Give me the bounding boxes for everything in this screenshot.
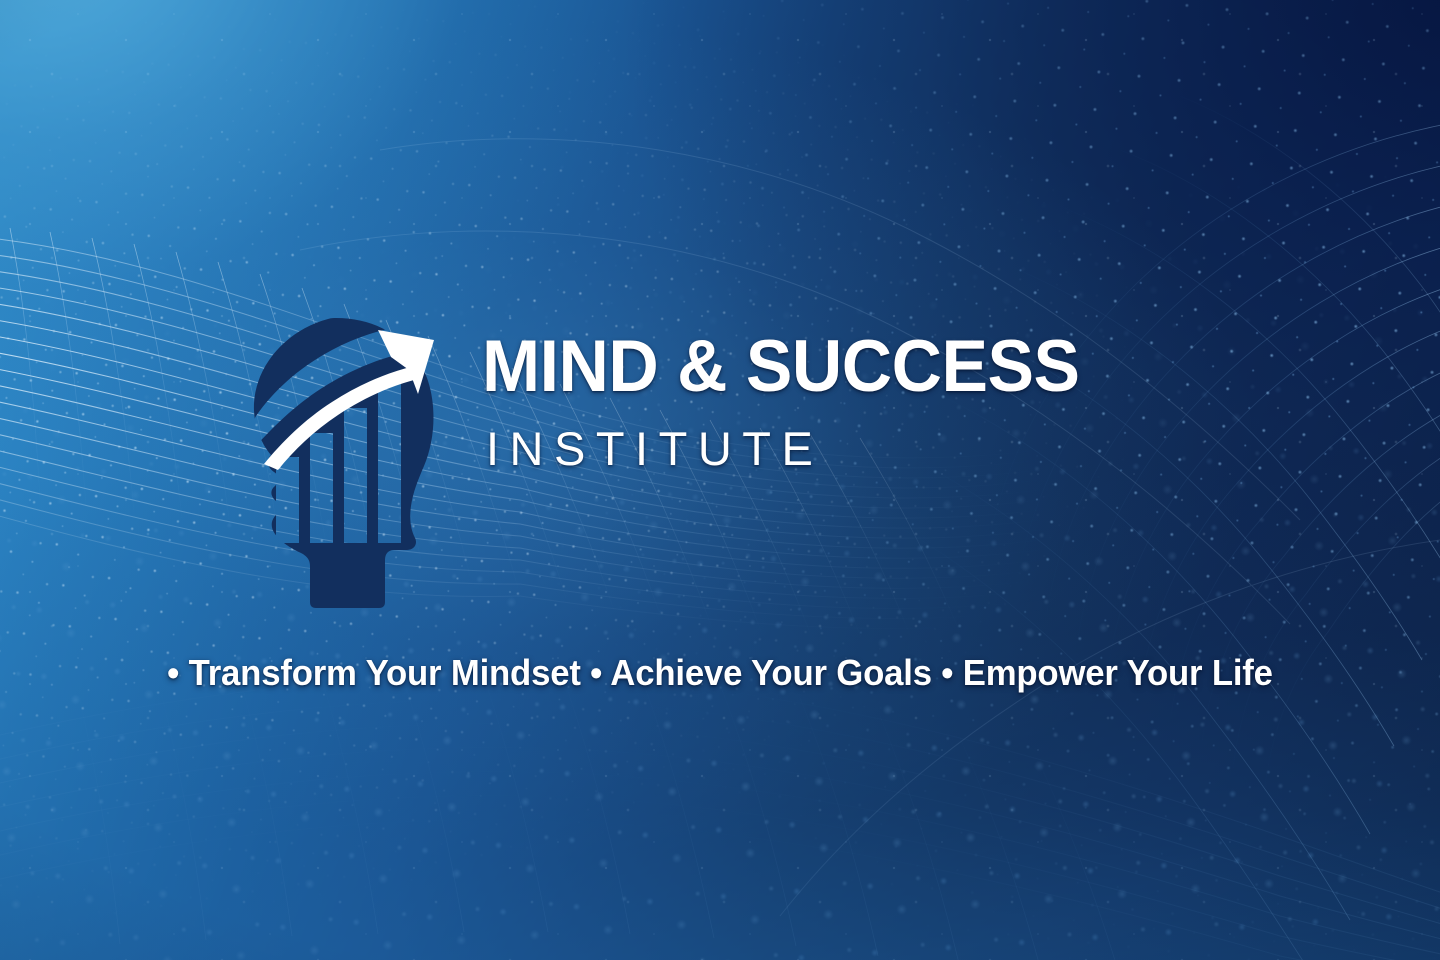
background-vignette bbox=[0, 0, 1440, 960]
brand-wordmark: MIND & SUCCESS INSTITUTE bbox=[482, 330, 1222, 472]
brand-name-primary: MIND & SUCCESS bbox=[482, 330, 1189, 403]
head-profile-with-bar-chart-and-rising-arrow-icon bbox=[228, 316, 452, 608]
tagline: • Transform Your Mindset • Achieve Your … bbox=[25, 655, 1415, 691]
logo-mark bbox=[228, 316, 452, 608]
banner-canvas: MIND & SUCCESS INSTITUTE • Transform You… bbox=[0, 0, 1440, 960]
brand-name-secondary: INSTITUTE bbox=[486, 425, 1222, 472]
